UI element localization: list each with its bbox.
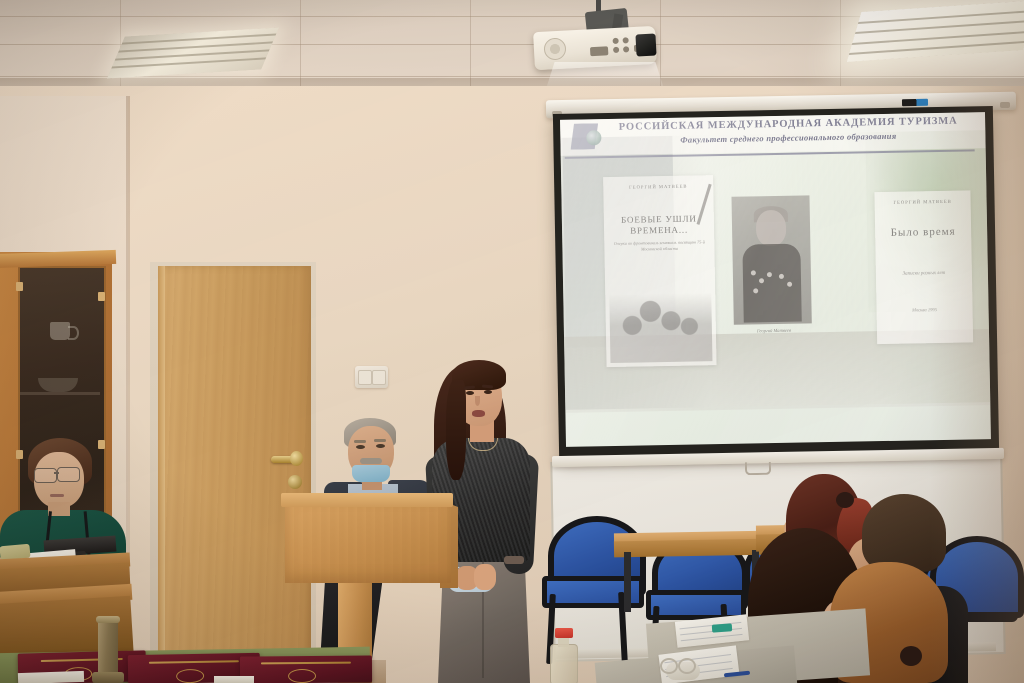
projected-slide: РОССИЙСКАЯ МЕЖДУНАРОДНАЯ АКАДЕМИЯ ТУРИЗМ…: [560, 112, 991, 447]
cabinet-cup: [50, 322, 70, 340]
cabinet-latch-top: [98, 292, 105, 301]
lectern-front-panel: [285, 505, 451, 583]
seated-man-eye-left: [356, 445, 365, 449]
projection-screen-surface: РОССИЙСКАЯ МЕЖДУНАРОДНАЯ АКАДЕМИЯ ТУРИЗМ…: [560, 112, 991, 447]
slide-book-cover-left: ГЕОРГИЙ МАТВЕЕВ БОЕВЫЕ УШЛИ ВРЕМЕНА... О…: [603, 175, 716, 367]
interior-door[interactable]: [158, 266, 311, 662]
presenter-wristwatch: [504, 556, 524, 564]
presenter-nose: [475, 396, 480, 406]
cabinet-cup-handle: [68, 326, 79, 340]
screen-brand-label: [902, 99, 928, 106]
seated-man-brow-right: [374, 439, 386, 442]
portrait-torso: [742, 244, 801, 323]
door-hinge-edge: [158, 266, 165, 662]
presenter-hand-right: [474, 564, 496, 590]
eyeglasses-on-desk[interactable]: [660, 658, 696, 672]
presenter-eye-left: [466, 391, 474, 395]
book-left-author: ГЕОРГИЙ МАТВЕЕВ: [603, 183, 713, 190]
seated-woman-eyeglass-bridge: [54, 472, 59, 474]
presenter-mouth: [472, 410, 485, 417]
shell-casing-base: [92, 672, 124, 683]
seated-man-brow-left: [354, 440, 366, 443]
cabinet-hinge-top: [16, 282, 23, 291]
presenter-eye-right: [484, 390, 492, 394]
seated-man-face-mask: [352, 465, 390, 482]
audience-auburn-scrunchie: [900, 646, 922, 666]
door-handle-rosette: [290, 451, 303, 466]
water-bottle[interactable]: [550, 644, 578, 683]
slide-portrait-photo: [731, 195, 811, 324]
projection-screen-pull-handle[interactable]: [745, 462, 771, 475]
cabinet-shelf: [20, 392, 100, 395]
lectern-reading-surface[interactable]: [281, 493, 453, 507]
brass-shell-casing[interactable]: [98, 618, 118, 680]
display-book-2-pages: [214, 676, 254, 683]
water-bottle-cap[interactable]: [555, 628, 573, 638]
projector-lens: [635, 33, 656, 56]
right-wall-shading: [930, 86, 1024, 683]
presenter-hair-side: [446, 380, 466, 480]
display-book-3[interactable]: [240, 655, 372, 683]
classroom-photo-scene: РОССИЙСКАЯ МЕЖДУНАРОДНАЯ АКАДЕМИЯ ТУРИЗМ…: [0, 0, 1024, 683]
display-book-1-pages: [18, 671, 84, 683]
door-lock-cylinder[interactable]: [288, 475, 302, 489]
green-marker[interactable]: [712, 623, 733, 632]
book-left-monument-art: [609, 263, 713, 363]
seated-woman-eyeglass-right: [57, 467, 80, 482]
seated-woman-mouth: [50, 494, 64, 497]
seated-woman-eyeglass-left: [34, 468, 57, 483]
shell-casing-rim: [96, 616, 120, 623]
seated-man-eye-right: [376, 444, 385, 448]
light-switch-plate[interactable]: [355, 366, 388, 388]
portrait-head: [756, 210, 787, 247]
book-left-subtitle: Очерки по фронтовикам-землякам. посвящаю…: [610, 239, 708, 253]
audience-red-ponytail-scrunchie: [836, 492, 854, 508]
student-desk-mid-apron: [614, 539, 766, 558]
student-desk-mid-leg-left: [624, 552, 631, 612]
seated-man-mustache: [360, 458, 382, 464]
